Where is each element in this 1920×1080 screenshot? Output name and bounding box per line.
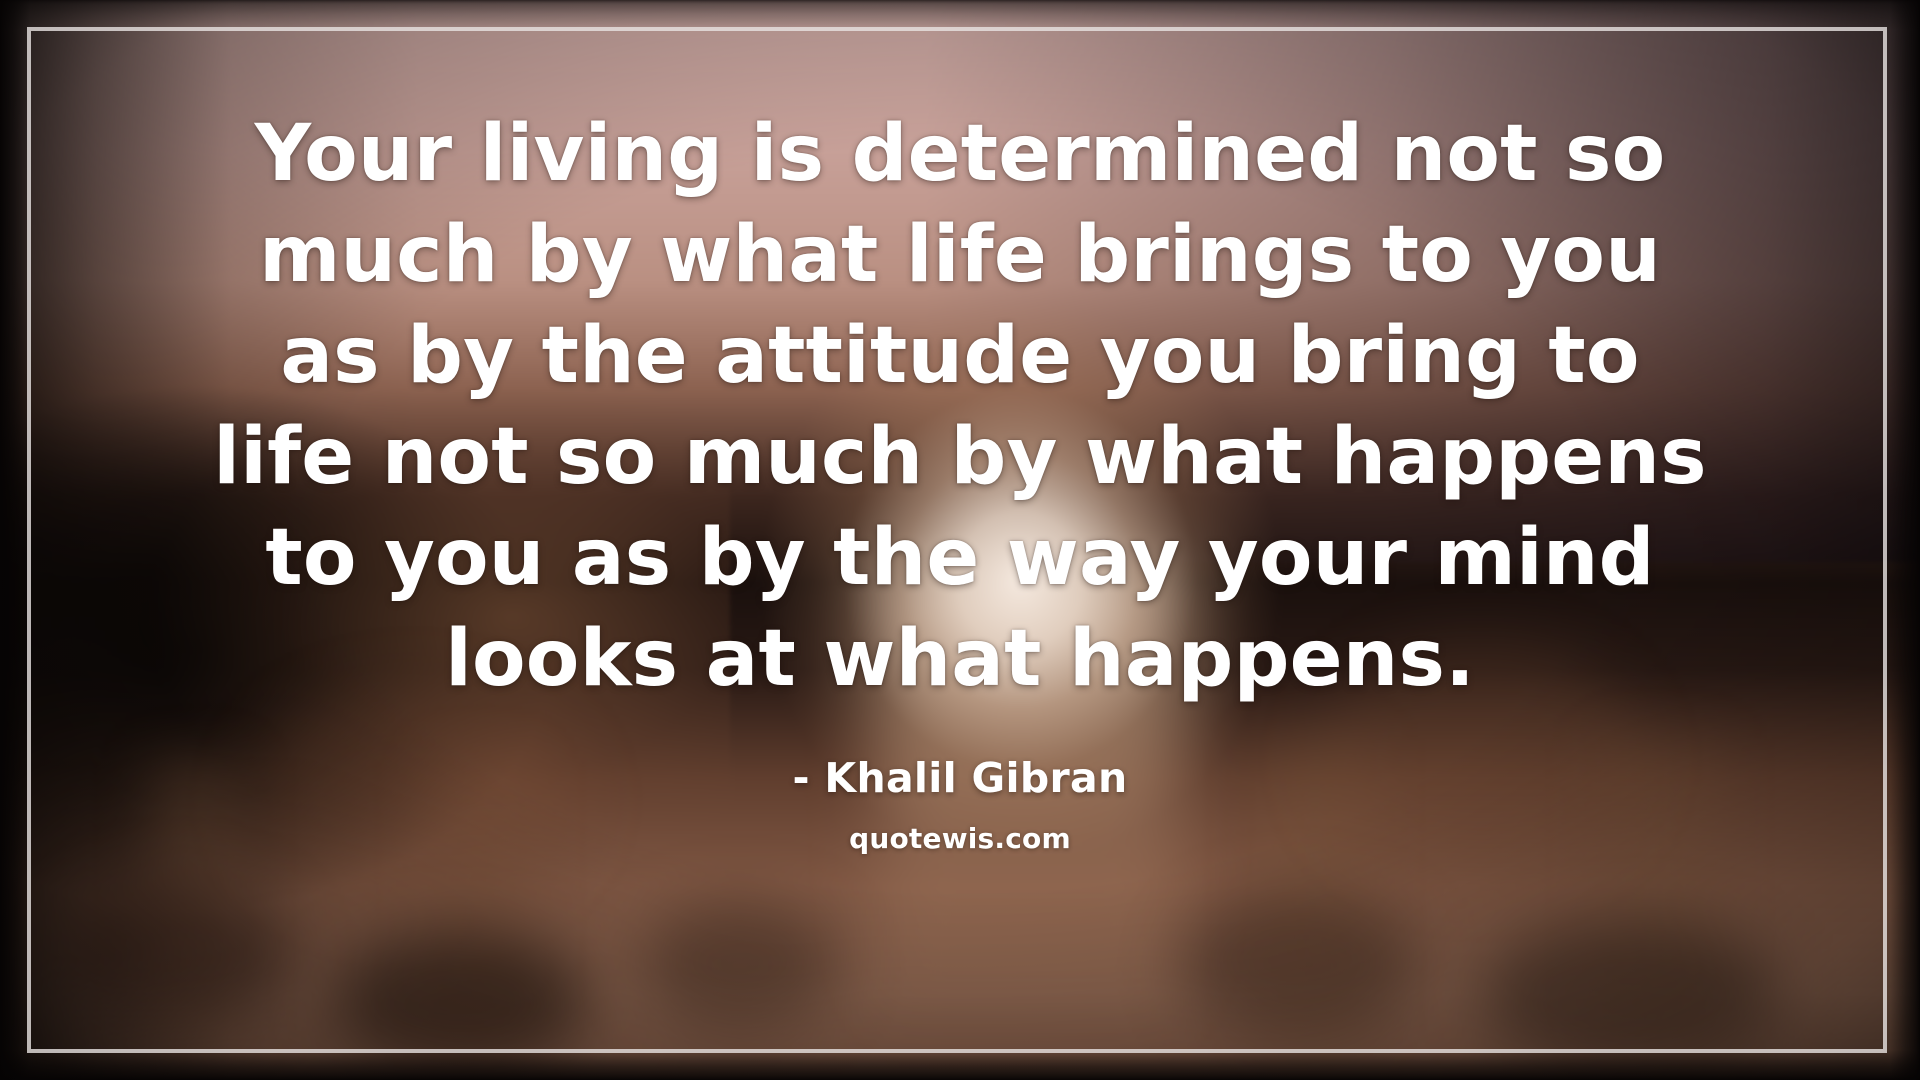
quote-line-4: life not so much by what happens [60, 407, 1860, 508]
quote-poster: Your living is determined not so much by… [0, 0, 1920, 1080]
quote-line-2: much by what life brings to you [60, 205, 1860, 306]
quote-line-1: Your living is determined not so [60, 104, 1860, 205]
quote-line-5: to you as by the way your mind [60, 508, 1860, 609]
quote-line-3: as by the attitude you bring to [60, 306, 1860, 407]
site-watermark: quotewis.com [60, 822, 1860, 855]
poster-content: Your living is determined not so much by… [0, 0, 1920, 1080]
quote-attribution: - Khalil Gibran [60, 754, 1860, 802]
quote-text: Your living is determined not so much by… [60, 0, 1860, 710]
quote-line-6: looks at what happens. [60, 609, 1860, 710]
